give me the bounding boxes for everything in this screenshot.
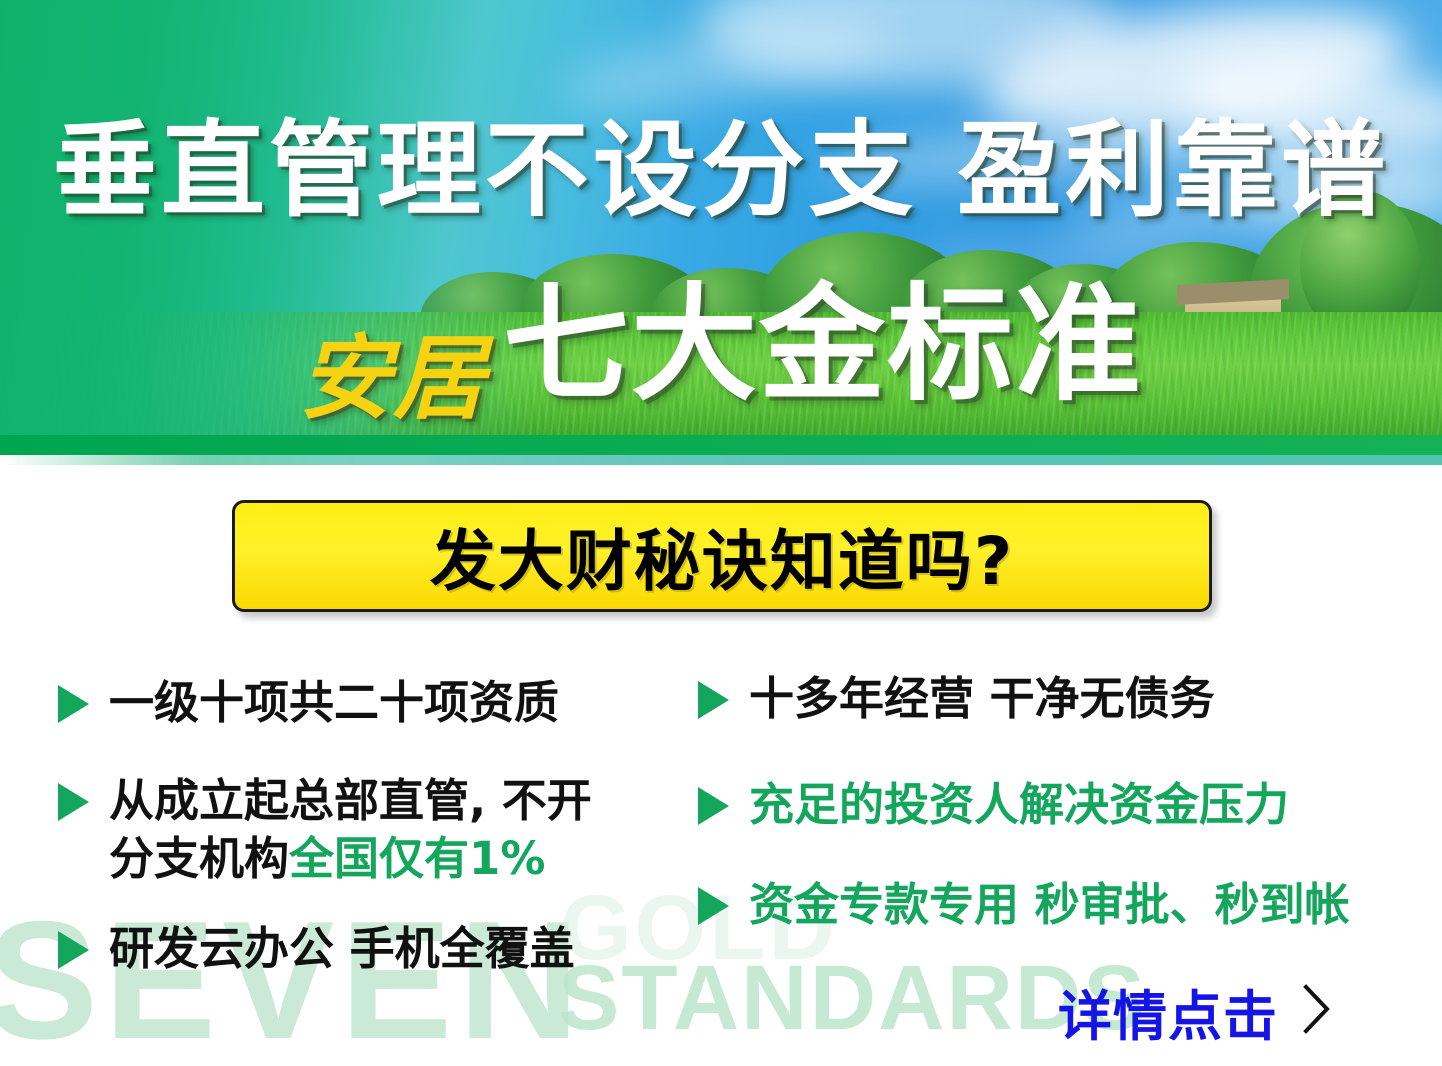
- cta-label: 详情点击: [1058, 972, 1278, 1051]
- feature-item: 十多年经营 干净无债务: [698, 670, 1215, 728]
- feature-line-2: 分支机构全国仅有1%: [109, 830, 592, 888]
- feature-line: 充足的投资人解决资金压力: [749, 778, 1289, 831]
- feature-item: 研发云办公 手机全覆盖: [58, 920, 575, 978]
- highlight-banner[interactable]: 发大财秘诀知道吗?: [232, 500, 1212, 612]
- triangle-bullet-icon: [58, 931, 89, 969]
- feature-item: 一级十项共二十项资质: [58, 674, 559, 732]
- feature-text: 资金专款专用 秒审批、秒到帐: [749, 876, 1350, 934]
- triangle-bullet-icon: [698, 681, 729, 719]
- features-section: 一级十项共二十项资质 从成立起总部直管, 不开 分支机构全国仅有1% 研发云办公…: [0, 660, 1442, 980]
- hero-subtitle-brand: 安居: [299, 333, 487, 425]
- feature-text: 充足的投资人解决资金压力: [749, 776, 1289, 834]
- feature-line: 一级十项共二十项资质: [109, 676, 559, 729]
- feature-item: 充足的投资人解决资金压力: [698, 776, 1289, 834]
- triangle-bullet-icon: [58, 685, 89, 723]
- feature-line: 十多年经营 干净无债务: [749, 672, 1215, 725]
- triangle-bullet-icon: [58, 783, 89, 821]
- feature-text: 研发云办公 手机全覆盖: [109, 920, 575, 978]
- hero-subtitle: 安居七大金标准: [0, 282, 1442, 408]
- ad-banner-page: 垂直管理不设分支 盈利靠谱 安居七大金标准 发大财秘诀知道吗? SEVEN GO…: [0, 0, 1442, 1066]
- hero-green-band: [0, 435, 1442, 455]
- hero-headline: 垂直管理不设分支 盈利靠谱: [0, 118, 1442, 222]
- feature-text: 十多年经营 干净无债务: [749, 670, 1215, 728]
- feature-item: 资金专款专用 秒审批、秒到帐: [698, 876, 1350, 934]
- highlight-banner-text: 发大财秘诀知道吗?: [430, 508, 1014, 604]
- hero-section: 垂直管理不设分支 盈利靠谱 安居七大金标准: [0, 0, 1442, 465]
- hero-fade-bar: [0, 455, 1442, 465]
- feature-line-2-highlight: 全国仅有1%: [289, 832, 545, 885]
- triangle-bullet-icon: [698, 787, 729, 825]
- chevron-right-icon: [1300, 981, 1334, 1042]
- feature-line-2-black: 分支机构: [109, 832, 289, 885]
- feature-line: 资金专款专用 秒审批、秒到帐: [749, 878, 1350, 931]
- triangle-bullet-icon: [698, 887, 729, 925]
- feature-text: 一级十项共二十项资质: [109, 674, 559, 732]
- feature-text: 从成立起总部直管, 不开 分支机构全国仅有1%: [109, 772, 592, 887]
- cta-link[interactable]: 详情点击: [1058, 972, 1334, 1051]
- feature-item: 从成立起总部直管, 不开 分支机构全国仅有1%: [58, 772, 592, 887]
- feature-line: 从成立起总部直管, 不开: [109, 774, 592, 827]
- feature-line: 研发云办公 手机全覆盖: [109, 922, 575, 975]
- hero-subtitle-main: 七大金标准: [503, 282, 1143, 408]
